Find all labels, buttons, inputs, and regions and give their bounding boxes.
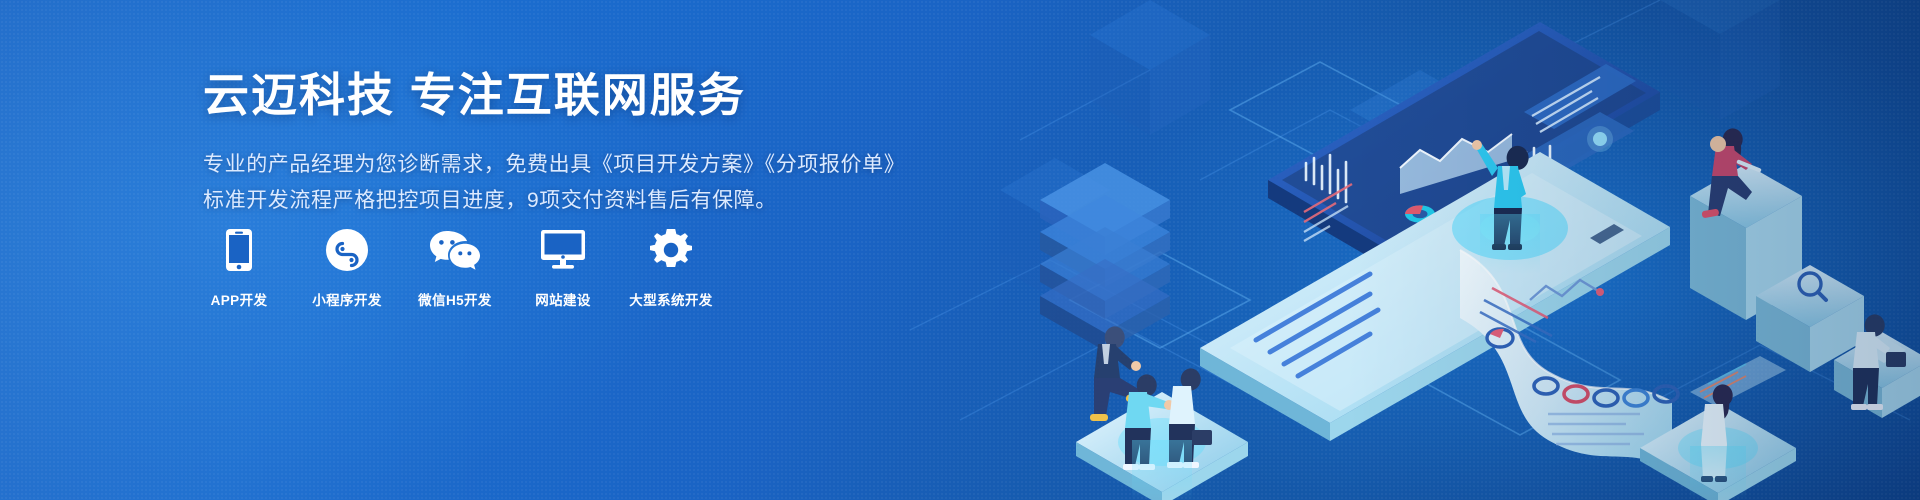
- illustration-isometric-analytics: [900, 0, 1920, 500]
- hero-banner: 云迈科技 专注互联网服务 专业的产品经理为您诊断需求，免费出具《项目开发方案》《…: [0, 0, 1920, 500]
- gear-icon: [650, 228, 692, 272]
- service-label: 大型系统开发: [629, 289, 712, 309]
- service-item-wechat-h5[interactable]: 微信H5开发: [419, 228, 491, 309]
- wechat-icon: [429, 228, 481, 272]
- service-list: APP开发 小程序开发: [203, 228, 707, 309]
- mini-program-icon: [326, 228, 368, 272]
- service-item-app[interactable]: APP开发: [203, 228, 275, 309]
- mobile-phone-icon: [226, 228, 252, 272]
- service-label: 小程序开发: [312, 289, 382, 309]
- service-label: 网站建设: [535, 289, 591, 309]
- service-item-website[interactable]: 网站建设: [527, 228, 599, 309]
- service-label: APP开发: [211, 289, 268, 309]
- page-title: 云迈科技 专注互联网服务: [203, 66, 903, 125]
- service-item-mini-program[interactable]: 小程序开发: [311, 228, 383, 309]
- hero-copy: 云迈科技 专注互联网服务 专业的产品经理为您诊断需求，免费出具《项目开发方案》《…: [203, 66, 903, 219]
- service-item-large-system[interactable]: 大型系统开发: [635, 228, 707, 309]
- monitor-icon: [541, 228, 585, 272]
- subtitle-line-1: 专业的产品经理为您诊断需求，免费出具《项目开发方案》《分项报价单》: [203, 147, 903, 183]
- hero-subtitle: 专业的产品经理为您诊断需求，免费出具《项目开发方案》《分项报价单》 标准开发流程…: [203, 147, 903, 219]
- service-label: 微信H5开发: [418, 289, 492, 309]
- subtitle-line-2: 标准开发流程严格把控项目进度，9项交付资料售后有保障。: [203, 183, 903, 219]
